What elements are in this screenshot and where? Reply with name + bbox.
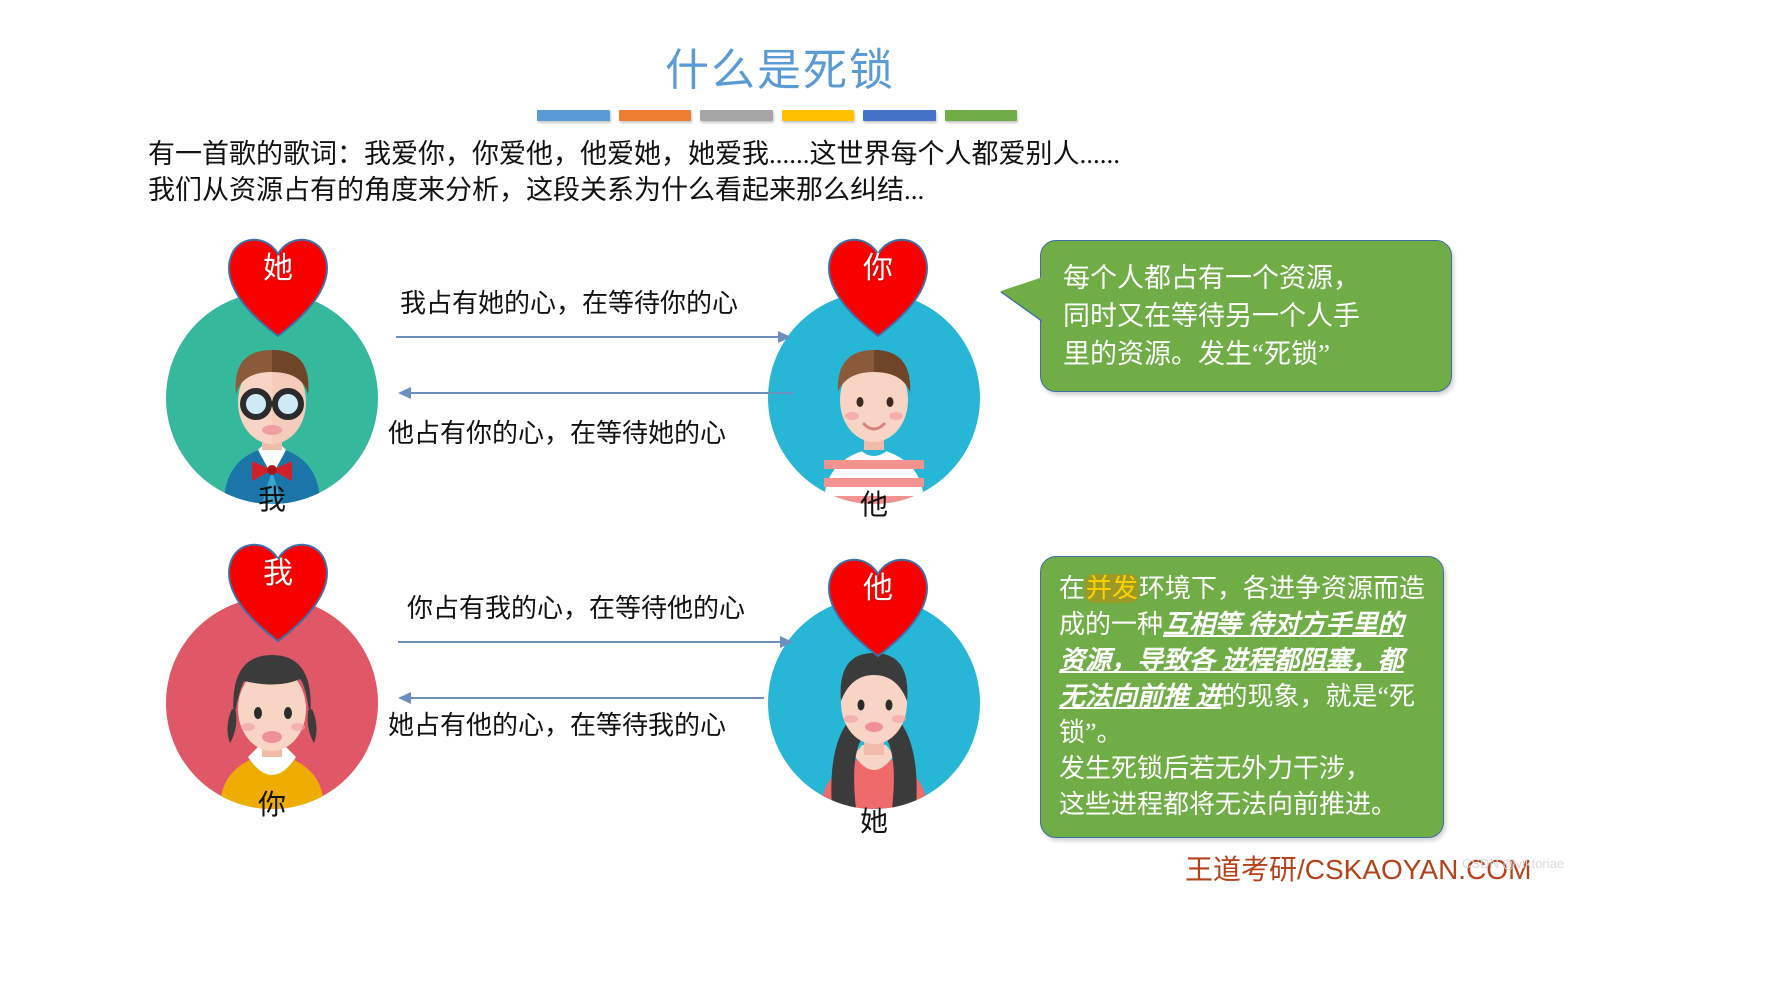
callout-bottom-highlight: 并发	[1085, 574, 1139, 603]
caption-row1-right: 他	[768, 483, 980, 523]
accent-bar-4	[782, 110, 855, 121]
arrow-head-row1-top	[778, 331, 791, 343]
heart-label: 她	[222, 252, 334, 286]
slide-canvas: 什么是死锁 有一首歌的歌词：我爱你，你爱他，他爱她，她爱我......这世界每个…	[0, 0, 1560, 990]
heart-badge-row1-left: 她	[222, 232, 334, 332]
callout-top-text: 每个人都占有一个资源， 同时又在等待另一个人手 里的资源。发生“死锁”	[1063, 259, 1433, 373]
heart-label: 我	[222, 557, 334, 591]
arrow-line-row2-top	[398, 641, 780, 643]
caption-row2-left: 你	[166, 783, 378, 823]
callout-bottom-text: 在并发环境下，各进争资源而造成的一种互相等 待对方手里的资源，导致各 进程都阻塞…	[1059, 571, 1429, 823]
arrow-label-row1-bottom: 他占有你的心，在等待她的心	[388, 413, 726, 450]
callout-bottom-pre: 在	[1059, 574, 1085, 603]
arrow-line-row2-bottom	[411, 697, 764, 699]
watermark-csdn: CSDN @viktoriae	[1462, 856, 1564, 871]
arrow-label-row2-top: 你占有我的心，在等待他的心	[407, 588, 745, 625]
accent-bar-2	[619, 110, 692, 121]
heart-badge-row2-right: 他	[822, 552, 934, 652]
accent-bar-1	[537, 110, 610, 121]
accent-bar-group	[537, 110, 1017, 122]
callout-tail-icon	[1001, 277, 1043, 321]
caption-row2-right: 她	[768, 800, 980, 840]
intro-paragraph: 有一首歌的歌词：我爱你，你爱他，他爱她，她爱我......这世界每个人都爱别人.…	[148, 136, 1328, 208]
page-title: 什么是死锁	[0, 34, 1560, 98]
arrow-label-row2-bottom: 她占有他的心，在等待我的心	[388, 705, 726, 742]
arrow-line-row1-bottom	[411, 392, 793, 394]
caption-row1-left: 我	[166, 478, 378, 518]
accent-bar-3	[700, 110, 773, 121]
arrow-label-row1-top: 我占有她的心，在等待你的心	[400, 283, 738, 320]
accent-bar-6	[945, 110, 1018, 121]
arrow-head-row2-top	[780, 636, 793, 648]
callout-bottom-post: 环境下，各进	[1139, 574, 1295, 603]
callout-top: 每个人都占有一个资源， 同时又在等待另一个人手 里的资源。发生“死锁”	[1040, 240, 1452, 392]
accent-bar-5	[863, 110, 936, 121]
heart-label: 你	[822, 252, 934, 286]
heart-label: 他	[822, 572, 934, 606]
arrow-line-row1-top	[396, 336, 778, 338]
callout-bottom: 在并发环境下，各进争资源而造成的一种互相等 待对方手里的资源，导致各 进程都阻塞…	[1040, 556, 1444, 838]
arrow-head-row1-bottom	[398, 387, 411, 399]
heart-badge-row1-right: 你	[822, 232, 934, 332]
heart-badge-row2-left: 我	[222, 537, 334, 637]
arrow-head-row2-bottom	[398, 692, 411, 704]
